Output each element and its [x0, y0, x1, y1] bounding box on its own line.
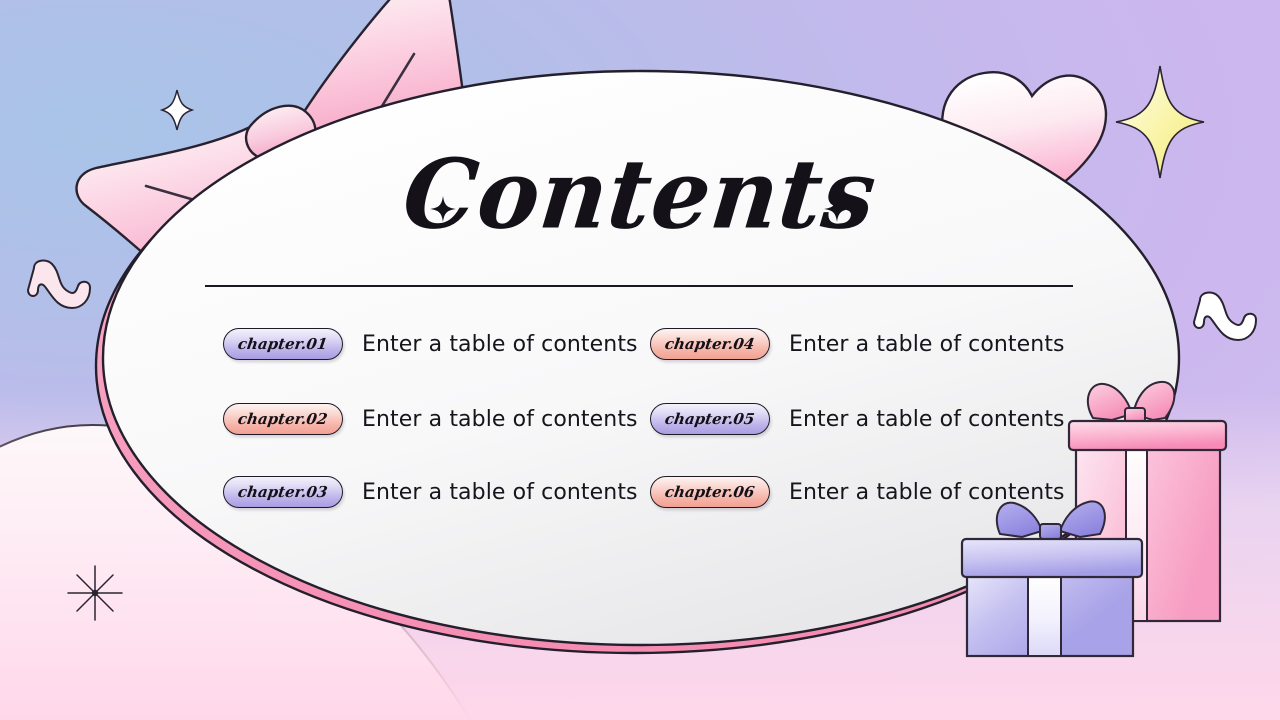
sparkle-line-icon: [0, 0, 1280, 720]
slide-root: Contents chapter.01 Enter a table of con…: [0, 0, 1280, 720]
